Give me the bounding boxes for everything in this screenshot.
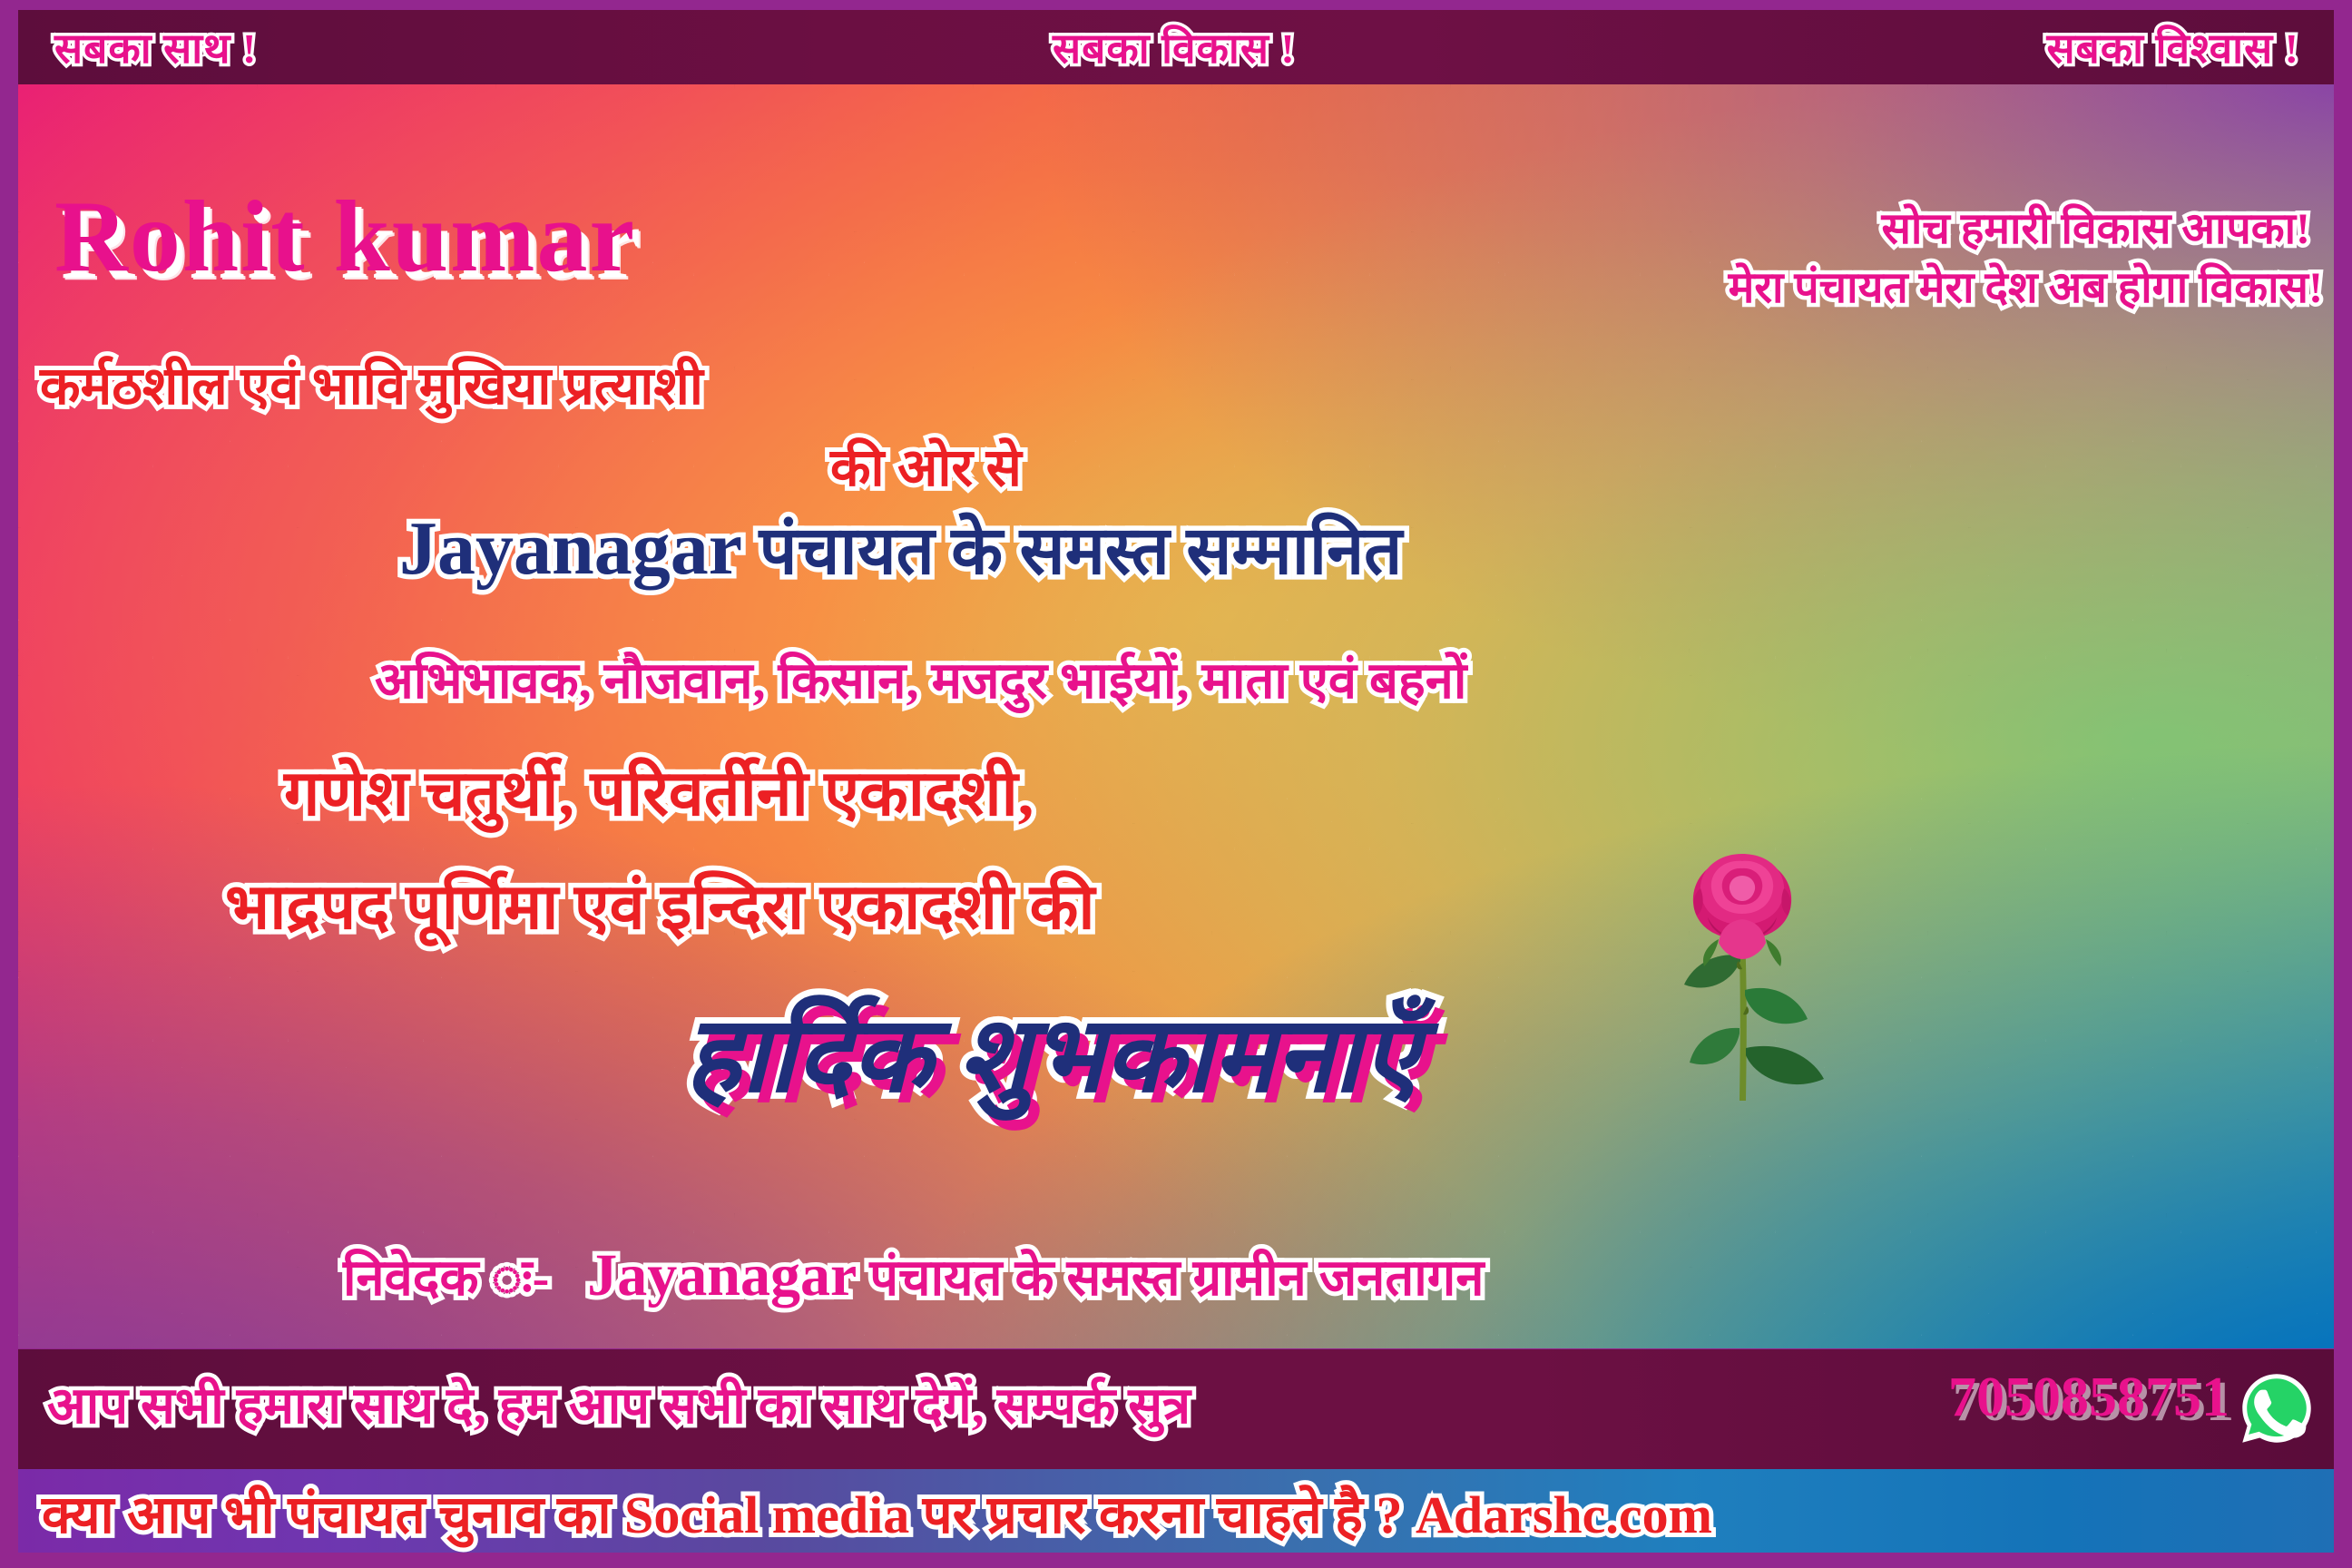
contact-message: आप सभी हमारा साथ दे, हम आप सभी का साथ दे… [47, 1369, 1191, 1438]
festival-line-1: गणेश चतुर्थी, परिवर्तीनी एकादशी, [284, 747, 1034, 834]
panchayat-line-rest: पंचायत के समस्त सम्मानित [742, 514, 1402, 589]
wish-headline: हार्दिक शुभकामनाएँ [685, 978, 1419, 1122]
requester-prefix: निवेदक ः- [343, 1250, 549, 1307]
contact-bar: आप सभी हमारा साथ दे, हम आप सभी का साथ दे… [18, 1349, 2334, 1469]
slogan-sabka-vikas: सबका विकास ! [1053, 19, 1296, 75]
greeting-poster: सबका साथ ! सबका विकास ! सबका विश्वास ! R… [0, 0, 2352, 1568]
contact-phone-number[interactable]: 7050858751 [1948, 1366, 2229, 1430]
requester-panchayat-name: Jayanagar [587, 1242, 857, 1308]
panchayat-greeting-line: Jayanagar पंचायत के समस्त सम्मानित [399, 502, 1402, 593]
right-slogan-line-1: सोच हमारी विकास आपका! [1881, 198, 2310, 257]
from-line: की ओर से [830, 429, 1022, 501]
rose-flower-icon [1651, 838, 1833, 1110]
top-slogan-bar: सबका साथ ! सबका विकास ! सबका विश्वास ! [18, 10, 2334, 84]
audience-line: अभिभावक, नौजवान, किसान, मजदुर भाईयों, मा… [375, 644, 1466, 713]
festival-line-2: भाद्रपद पूर्णिमा एवं इन्दिरा एकादशी की [225, 860, 1095, 947]
slogan-sabka-vishwas: सबका विश्वास ! [2046, 19, 2299, 75]
slogan-sabka-saath: सबका साथ ! [54, 19, 257, 75]
promo-bar: क्या आप भी पंचायत चुनाव का Social media … [18, 1469, 2334, 1553]
panchayat-name: Jayanagar [399, 506, 742, 591]
right-slogan-line-2: मेरा पंचायत मेरा देश अब होगा विकास! [1729, 257, 2323, 316]
promo-message[interactable]: क्या आप भी पंचायत चुनाव का Social media … [42, 1476, 1712, 1548]
requester-line: निवेदक ः- Jayanagar पंचायत के समस्त ग्रा… [343, 1241, 1484, 1310]
whatsapp-icon[interactable] [2239, 1371, 2314, 1445]
requester-suffix: पंचायत के समस्त ग्रामीन जनतागन [869, 1250, 1484, 1307]
poster-main-area: Rohit kumar सोच हमारी विकास आपका! मेरा प… [18, 84, 2334, 1348]
candidate-designation: कर्मठशील एवं भावि मुखिया प्रत्याशी [40, 348, 703, 419]
candidate-name: Rohit kumar [54, 179, 636, 296]
